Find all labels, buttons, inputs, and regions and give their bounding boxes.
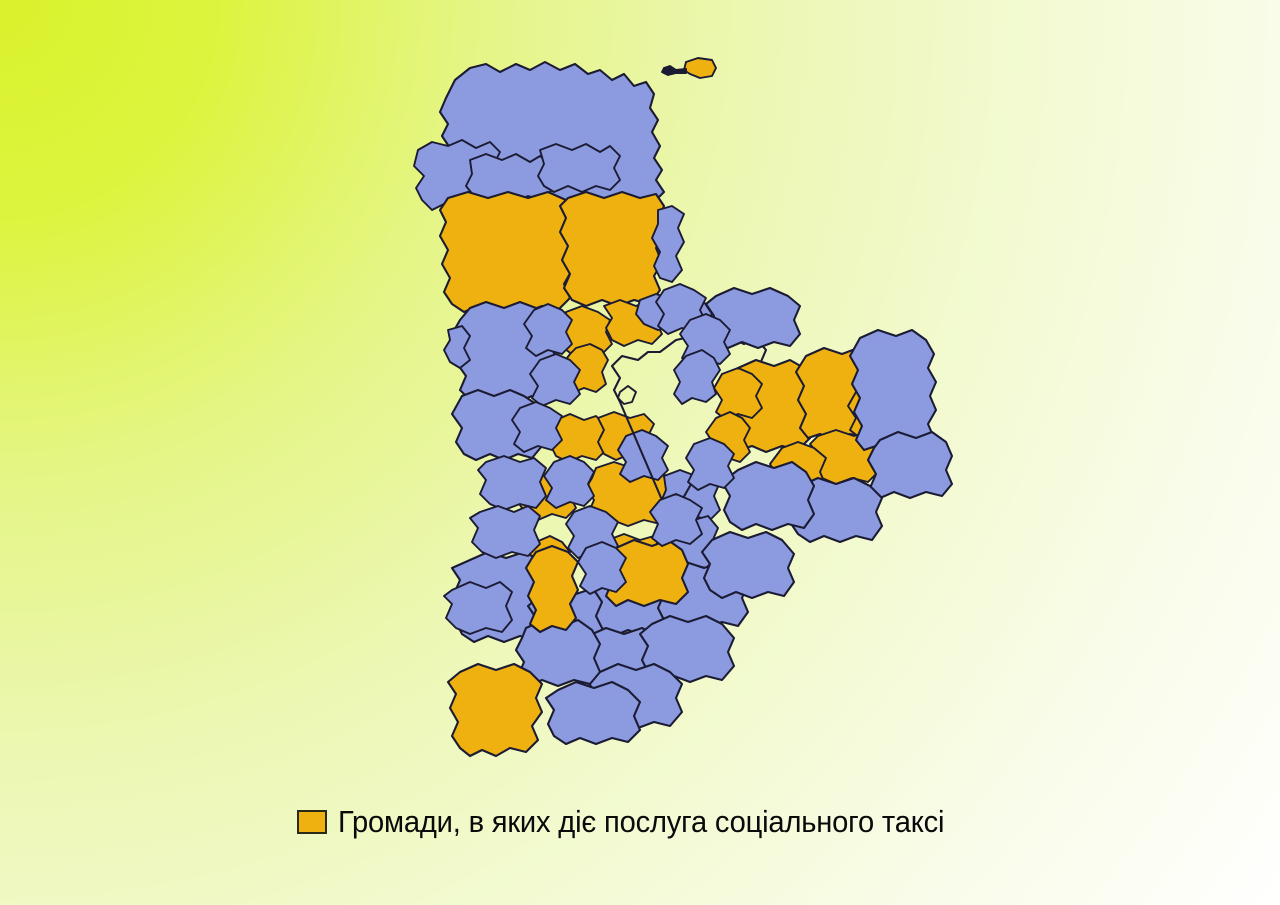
legend-color-swatch	[297, 810, 327, 834]
region-east-blue-southeast[interactable]	[722, 462, 814, 530]
region-southeast-edge-blue[interactable]	[702, 532, 794, 598]
region-west-mid-blue-1[interactable]	[470, 506, 540, 558]
region-north-inner-east[interactable]	[538, 144, 620, 192]
region-sw-orange-large[interactable]	[448, 664, 542, 756]
region-ne-blue-3[interactable]	[674, 350, 720, 404]
region-central-blue-d[interactable]	[544, 456, 594, 508]
region-kyiv-hole-notch[interactable]	[618, 386, 636, 404]
slide-canvas: Громади, в яких діє послуга соціального …	[0, 0, 1280, 905]
region-nc-orange-tall[interactable]	[560, 192, 664, 306]
region-top-island-orange[interactable]	[684, 58, 716, 78]
region-south-orange-tall[interactable]	[526, 546, 578, 632]
legend-label-text: Громади, в яких діє послуга соціального …	[338, 806, 944, 837]
choropleth-map[interactable]	[0, 0, 1280, 800]
region-top-island-tail[interactable]	[662, 66, 686, 75]
region-east-blue-mid[interactable]	[868, 432, 952, 498]
region-central-blue-c[interactable]	[512, 402, 562, 452]
region-mid-blue-2[interactable]	[650, 494, 702, 546]
region-nw-orange-large[interactable]	[440, 192, 572, 312]
region-west-mid-blue-2[interactable]	[444, 582, 512, 634]
map-container[interactable]	[0, 0, 1280, 800]
legend-row: Громади, в яких діє послуга соціального …	[297, 806, 983, 837]
region-mid-blue-3[interactable]	[686, 438, 734, 490]
region-east-orange-6[interactable]	[714, 368, 762, 420]
legend-area: Громади, в яких діє послуга соціального …	[0, 800, 1280, 905]
region-central-blue-e[interactable]	[478, 456, 546, 510]
region-mid-blue-1[interactable]	[578, 542, 626, 594]
region-south-bottom-blue[interactable]	[546, 682, 640, 744]
